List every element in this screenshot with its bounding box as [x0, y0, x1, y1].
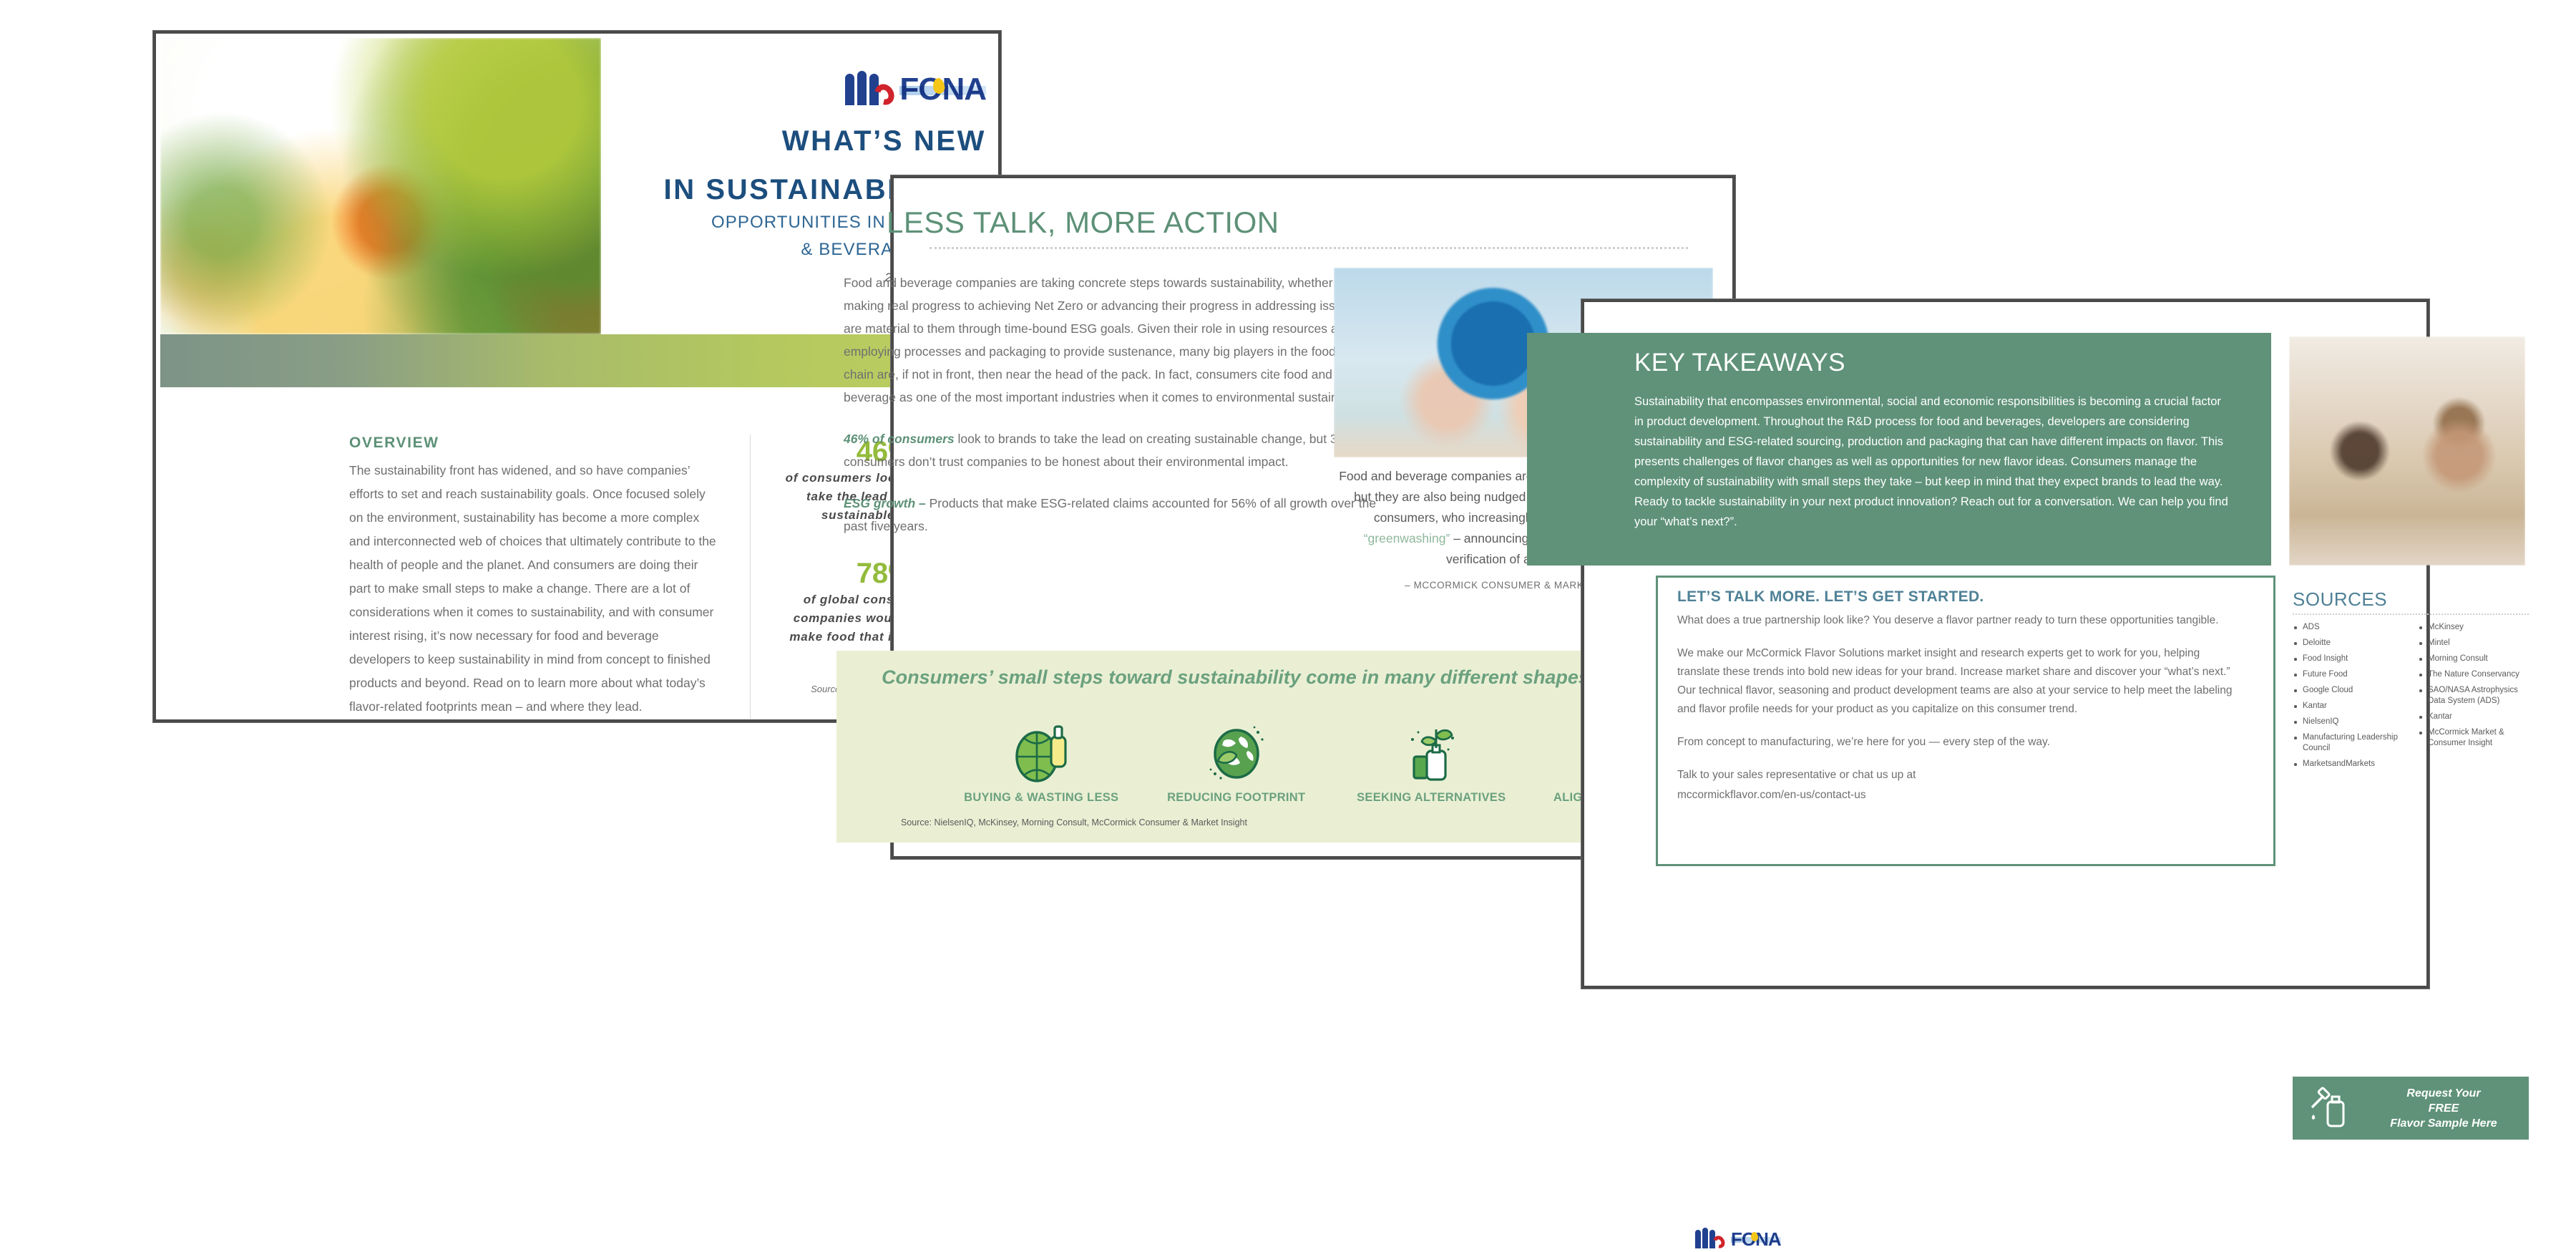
- icon-item-reducing-footprint: REDUCING FOOTPRINT: [1139, 712, 1335, 805]
- sources-heading: SOURCES: [2293, 588, 2529, 611]
- quote-greenwashing: “greenwashing”: [1364, 531, 1450, 545]
- cover-title-line1: WHAT’S NEW: [614, 125, 986, 157]
- store-photo: [2289, 336, 2525, 566]
- cover-hero-image: [160, 38, 601, 334]
- list-item: Manufacturing Leadership Council: [2293, 732, 2404, 754]
- fona-wordmark: FONA: [899, 74, 986, 105]
- sources-block: SOURCES ADS Deloitte Food Insight Future…: [2293, 588, 2529, 775]
- mccormick-fona-logo: FONA: [1695, 1210, 1781, 1248]
- page-key-takeaways: KEY TAKEAWAYS Sustainability that encomp…: [1581, 299, 2429, 989]
- mccormick-fona-logo: FONA: [845, 67, 986, 105]
- cta-body: What does a true partnership look like? …: [1677, 611, 2243, 819]
- list-item: NielsenIQ: [2293, 717, 2404, 727]
- icon-item-buying-wasting-less: BUYING & WASTING LESS: [944, 712, 1139, 805]
- key-takeaways-panel: KEY TAKEAWAYS Sustainability that encomp…: [1527, 333, 2271, 566]
- fona-wordmark: FONA: [1731, 1230, 1781, 1248]
- footer-logo: FONA: [1695, 1210, 1781, 1252]
- cta-contact-link[interactable]: mccormickflavor.com/en-us/contact-us: [1677, 786, 2243, 805]
- sources-columns: ADS Deloitte Food Insight Future Food Go…: [2293, 622, 2529, 775]
- sources-column-2: McKinsey Mintel Morning Consult The Natu…: [2418, 622, 2529, 775]
- cta-paragraph-3: From concept to manufacturing, we’re her…: [1677, 733, 2243, 752]
- page2-p3-lead: ESG growth –: [844, 496, 926, 510]
- icon-item-seeking-alternatives: SEEKING ALTERNATIVES: [1334, 712, 1529, 805]
- overview-paragraph: The sustainability front has widened, an…: [349, 459, 717, 719]
- earth-leaf-icon: [1139, 712, 1335, 790]
- sprout-bottle-icon: [1334, 712, 1529, 790]
- cta-paragraph-4: Talk to your sales representative or cha…: [1677, 766, 2243, 785]
- icon-label: BUYING & WASTING LESS: [944, 790, 1139, 805]
- zero-waste-store-image: [2289, 336, 2525, 566]
- mccormick-mc-icon: [1695, 1226, 1724, 1248]
- list-item: ADS: [2293, 622, 2404, 633]
- list-item: Morning Consult: [2418, 654, 2529, 664]
- list-item: Food Insight: [2293, 654, 2404, 664]
- list-item: Kantar: [2293, 701, 2404, 712]
- list-item: Kantar: [2418, 712, 2529, 722]
- page2-paragraph-2: 46% of consumers look to brands to take …: [844, 427, 1387, 473]
- button-line-1: Request Your: [2364, 1086, 2523, 1101]
- list-item: SAO/NASA Astrophysics Data System (ADS): [2418, 685, 2529, 707]
- list-item: Google Cloud: [2293, 685, 2404, 696]
- request-sample-button[interactable]: Request Your FREE Flavor Sample Here: [2293, 1077, 2529, 1140]
- cta-paragraph-2: We make our McCormick Flavor Solutions m…: [1677, 644, 2243, 719]
- dropper-bottle-icon: [2293, 1086, 2364, 1130]
- overview-heading: OVERVIEW: [349, 435, 717, 452]
- list-item: The Nature Conservancy: [2418, 669, 2529, 680]
- orange-tree-photo: [160, 38, 601, 334]
- icon-label: SEEKING ALTERNATIVES: [1334, 790, 1529, 805]
- overview-column: OVERVIEW The sustainability front has wi…: [349, 435, 717, 719]
- cta-paragraph-1: What does a true partnership look like? …: [1677, 611, 2243, 630]
- button-line-3: Flavor Sample Here: [2364, 1116, 2523, 1131]
- cta-heading: LET’S TALK MORE. LET’S GET STARTED.: [1677, 588, 1984, 606]
- sources-column-1: ADS Deloitte Food Insight Future Food Go…: [2293, 622, 2404, 775]
- list-item: Future Food: [2293, 669, 2404, 680]
- page2-source: Source: NielsenIQ, McKinsey, Morning Con…: [901, 817, 1247, 828]
- page2-body-column: Food and beverage companies are taking c…: [844, 271, 1387, 556]
- page2-p2-lead: 46% of consumers: [844, 432, 955, 446]
- sources-rule: [2293, 613, 2529, 615]
- button-line-2: FREE: [2364, 1101, 2523, 1116]
- mccormick-mc-icon: [845, 68, 892, 105]
- page2-paragraph-3: ESG growth – Products that make ESG-rela…: [844, 492, 1387, 538]
- list-item: Mintel: [2418, 638, 2529, 649]
- page2-paragraph-1: Food and beverage companies are taking c…: [844, 271, 1387, 409]
- key-takeaways-heading: KEY TAKEAWAYS: [1634, 349, 1845, 377]
- column-divider: [750, 435, 751, 719]
- page2-heading: LESS TALK, MORE ACTION: [887, 205, 1674, 240]
- icon-label: REDUCING FOOTPRINT: [1139, 790, 1335, 805]
- list-item: MarketsandMarkets: [2293, 759, 2404, 770]
- bottle-globe-icon: [944, 712, 1139, 790]
- list-item: Deloitte: [2293, 638, 2404, 649]
- request-sample-label: Request Your FREE Flavor Sample Here: [2364, 1086, 2529, 1131]
- list-item: McKinsey: [2418, 622, 2529, 633]
- key-takeaways-body: Sustainability that encompasses environm…: [1634, 392, 2228, 532]
- page2-heading-rule: [930, 247, 1688, 249]
- list-item: McCormick Market & Consumer Insight: [2418, 727, 2529, 749]
